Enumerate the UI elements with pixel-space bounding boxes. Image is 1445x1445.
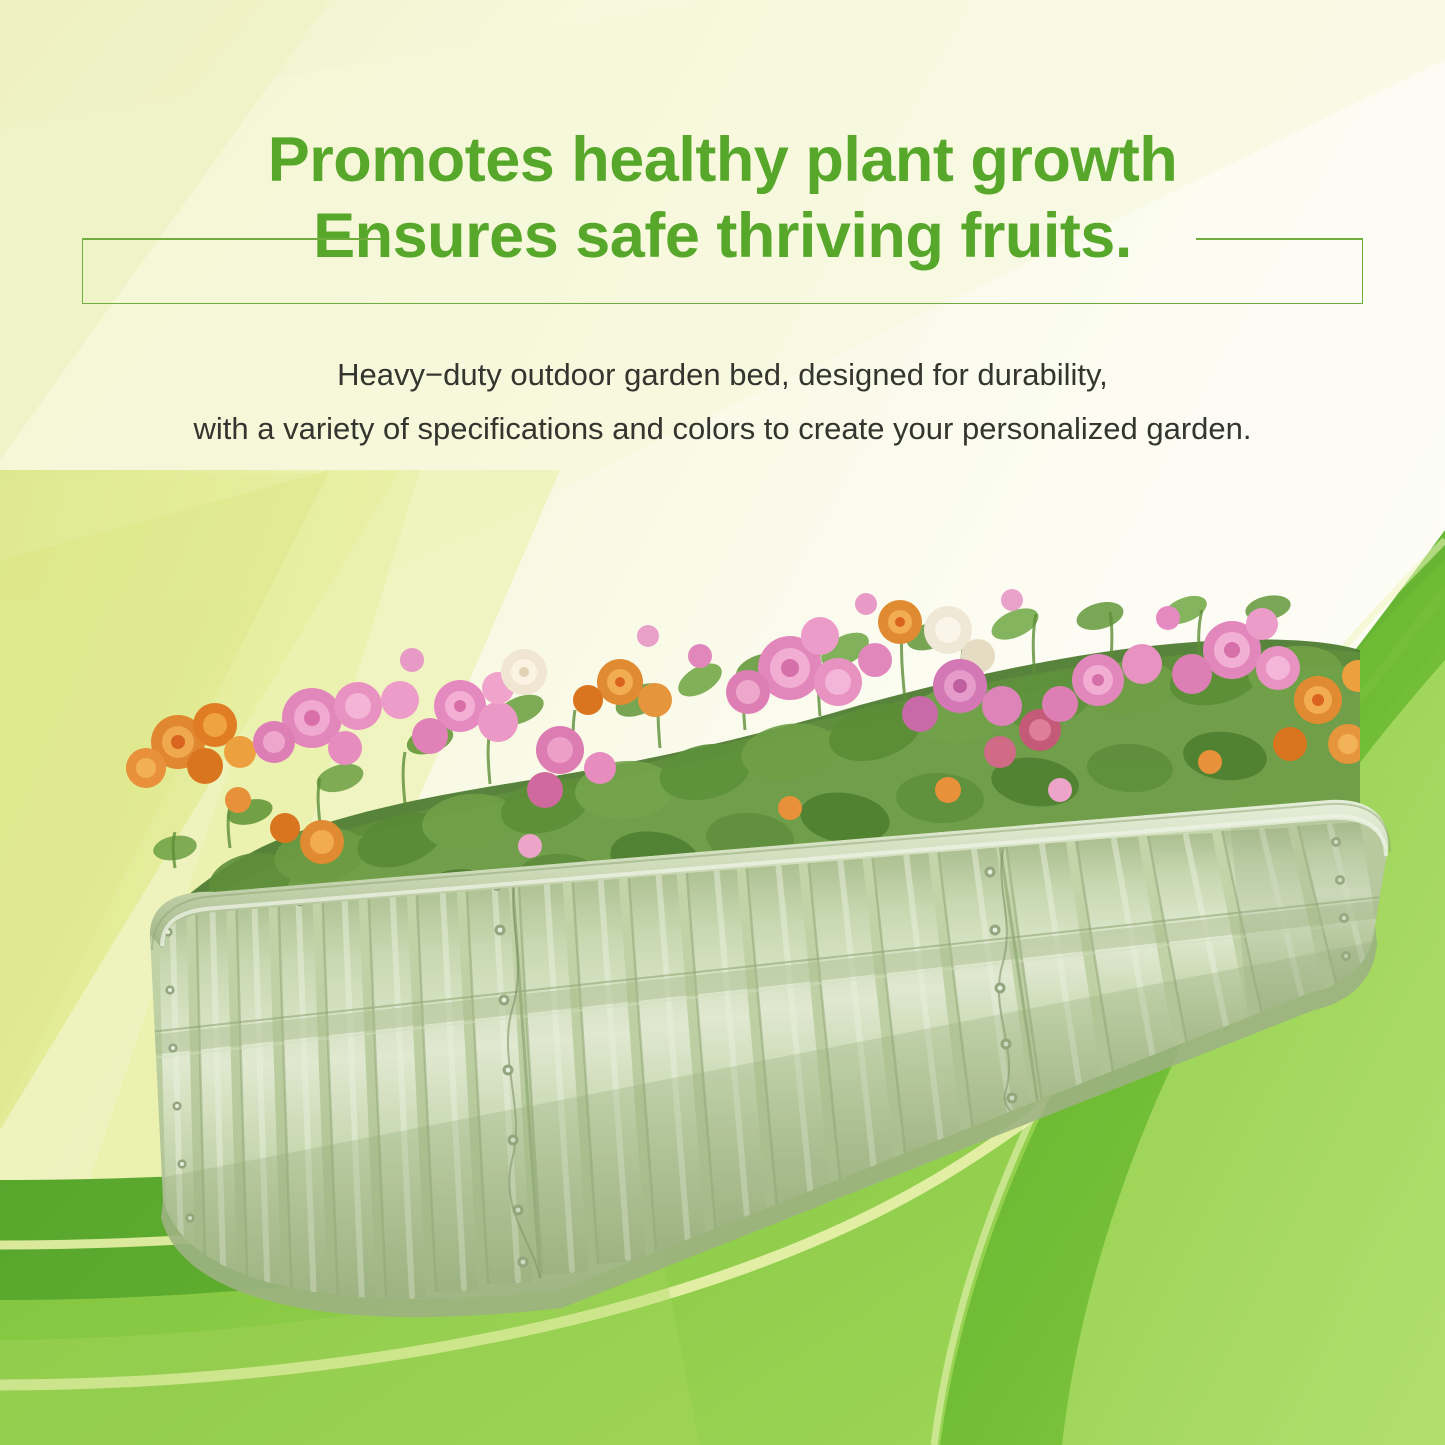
product-banner: Promotes healthy plant growth Ensures sa…: [0, 0, 1445, 1445]
subtitle-line-1: Heavy−duty outdoor garden bed, designed …: [0, 348, 1445, 402]
headline-line-2: Ensures safe thriving fruits.: [0, 198, 1445, 274]
headline-line-1: Promotes healthy plant growth: [0, 122, 1445, 198]
subtitle-line-2: with a variety of specifications and col…: [0, 402, 1445, 456]
page-title: Promotes healthy plant growth Ensures sa…: [0, 122, 1445, 274]
page-subtitle: Heavy−duty outdoor garden bed, designed …: [0, 348, 1445, 456]
